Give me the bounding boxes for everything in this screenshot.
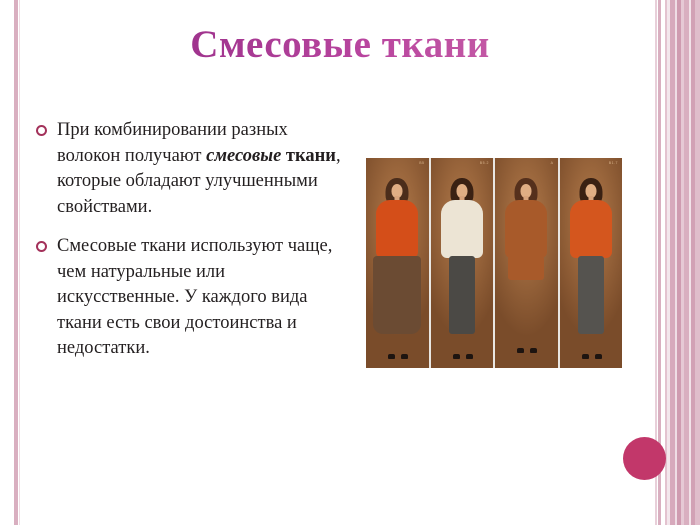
accent-circle-decoration	[623, 437, 666, 480]
model-upper-garment	[376, 200, 418, 258]
list-item: Смесовые ткани используют чаще, чем нату…	[36, 234, 346, 362]
left-border-stripe	[14, 0, 18, 525]
ring-bullet-icon	[36, 125, 47, 136]
model-lower-garment	[449, 256, 475, 334]
model-lower-garment	[373, 256, 421, 334]
panel-code-label: A	[551, 161, 554, 165]
presentation-slide: Смесовые ткани При комбинировании разных…	[0, 0, 700, 525]
model-lower-garment	[578, 256, 604, 334]
model-shoe	[582, 354, 589, 359]
photo-panel: B1.7	[560, 158, 623, 368]
slide-title: Смесовые ткани	[60, 22, 620, 68]
left-border-stripe-secondary	[19, 0, 20, 525]
model-lower-garment	[508, 256, 544, 280]
photo-panel: B5.2	[431, 158, 496, 368]
ring-bullet-icon	[36, 241, 47, 252]
model-shoe	[388, 354, 395, 359]
model-upper-garment	[570, 200, 612, 258]
panel-code-label: B5.2	[480, 161, 489, 165]
model-shoe	[401, 354, 408, 359]
model-shoe	[466, 354, 473, 359]
list-item: При комбинировании разных волокон получа…	[36, 118, 346, 220]
photo-panel-row: B5B5.2AB1.7	[366, 158, 622, 368]
bullet-text-segment: смесовые	[206, 146, 281, 166]
panel-code-label: B5	[419, 161, 424, 165]
panel-code-label: B1.7	[609, 161, 618, 165]
bullet-text-segment: ткани	[286, 146, 336, 166]
model-shoe	[530, 348, 537, 353]
fashion-photo: B5B5.2AB1.7	[366, 158, 622, 368]
bullet-text-segment: Смесовые ткани используют чаще, чем нату…	[57, 236, 332, 358]
border-stripe	[695, 0, 700, 525]
model-shoe	[595, 354, 602, 359]
model-upper-garment	[441, 200, 483, 258]
model-shoe	[517, 348, 524, 353]
bullet-list: При комбинировании разных волокон получа…	[36, 118, 346, 376]
model-upper-garment	[505, 200, 547, 258]
bullet-text: При комбинировании разных волокон получа…	[57, 118, 346, 220]
bullet-text: Смесовые ткани используют чаще, чем нату…	[57, 234, 346, 362]
model-shoe	[453, 354, 460, 359]
photo-panel: A	[495, 158, 560, 368]
photo-panel: B5	[366, 158, 431, 368]
